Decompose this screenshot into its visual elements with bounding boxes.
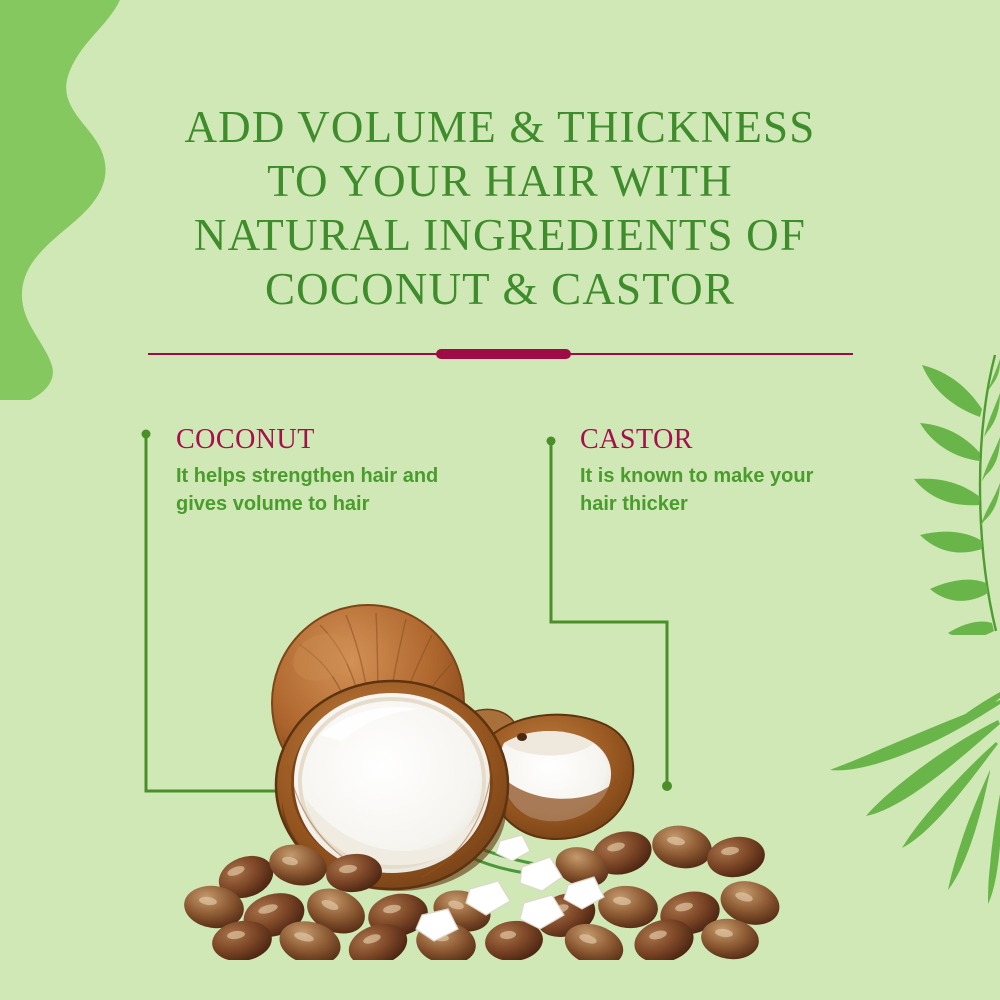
page-title: ADD VOLUME & THICKNESS TO YOUR HAIR WITH… (100, 100, 900, 316)
ingredient-description-coconut: It helps strengthen hair and gives volum… (176, 462, 506, 518)
ingredient-title-coconut: COCONUT (176, 424, 506, 456)
connector-dot-coconut-start (142, 430, 151, 439)
fern-leaf-icon (870, 345, 1000, 635)
divider-center-knob (436, 349, 571, 359)
ingredient-title-castor: CASTOR (580, 424, 880, 456)
bamboo-leaf-icon (830, 690, 1000, 920)
ingredient-description-castor: It is known to make your hair thicker (580, 462, 880, 518)
ingredient-callout-coconut: COCONUT It helps strengthen hair and giv… (176, 424, 506, 518)
coconut-and-castor-beans-photo (170, 585, 790, 960)
ingredient-callout-castor: CASTOR It is known to make your hair thi… (580, 424, 880, 518)
connector-dot-castor-start (547, 437, 556, 446)
divider (148, 348, 853, 360)
poster-canvas: ADD VOLUME & THICKNESS TO YOUR HAIR WITH… (0, 0, 1000, 1000)
